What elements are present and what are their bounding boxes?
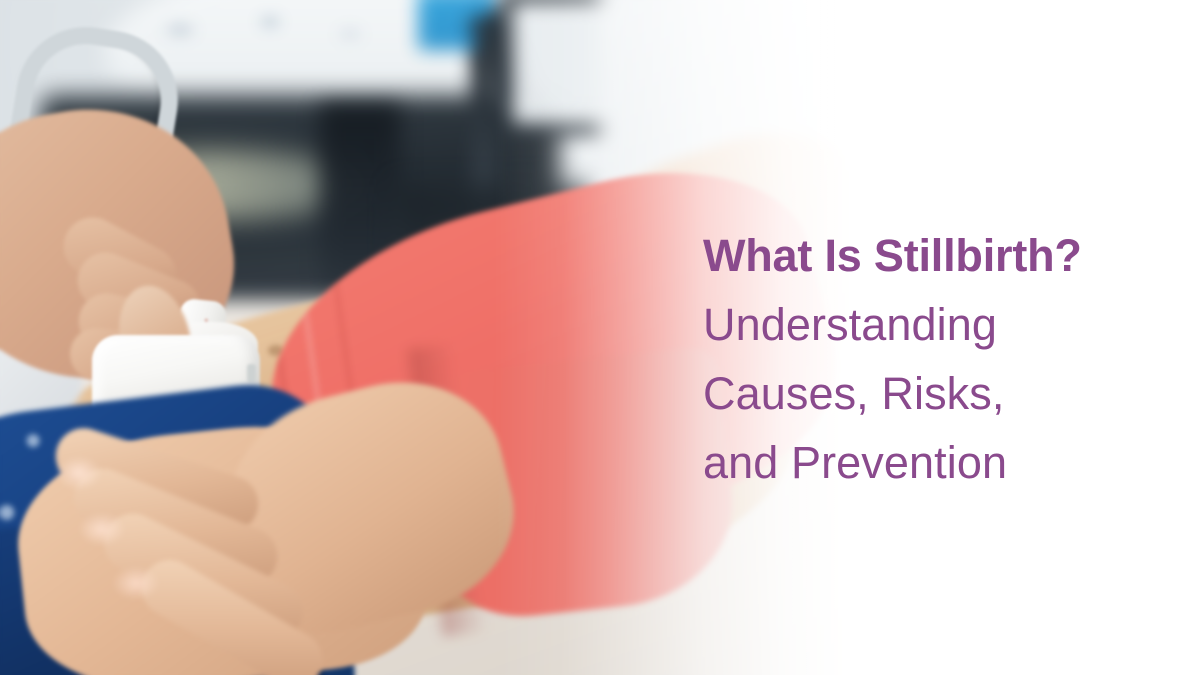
subtitle-line-2: Causes, Risks,: [703, 359, 1173, 428]
subtitle-line-1: Understanding: [703, 290, 1173, 359]
article-hero-banner: What Is Stillbirth? Understanding Causes…: [0, 0, 1200, 675]
patient-fingernail-highlight-2: [78, 512, 126, 546]
patient-fingernail-highlight-1: [56, 456, 102, 490]
hero-text-block: What Is Stillbirth? Understanding Causes…: [703, 222, 1173, 497]
page-title: What Is Stillbirth?: [703, 222, 1173, 290]
patient-fingernail-highlight-3: [112, 566, 160, 600]
transducer-side-button: [247, 364, 256, 382]
subtitle-line-3: and Prevention: [703, 428, 1173, 497]
